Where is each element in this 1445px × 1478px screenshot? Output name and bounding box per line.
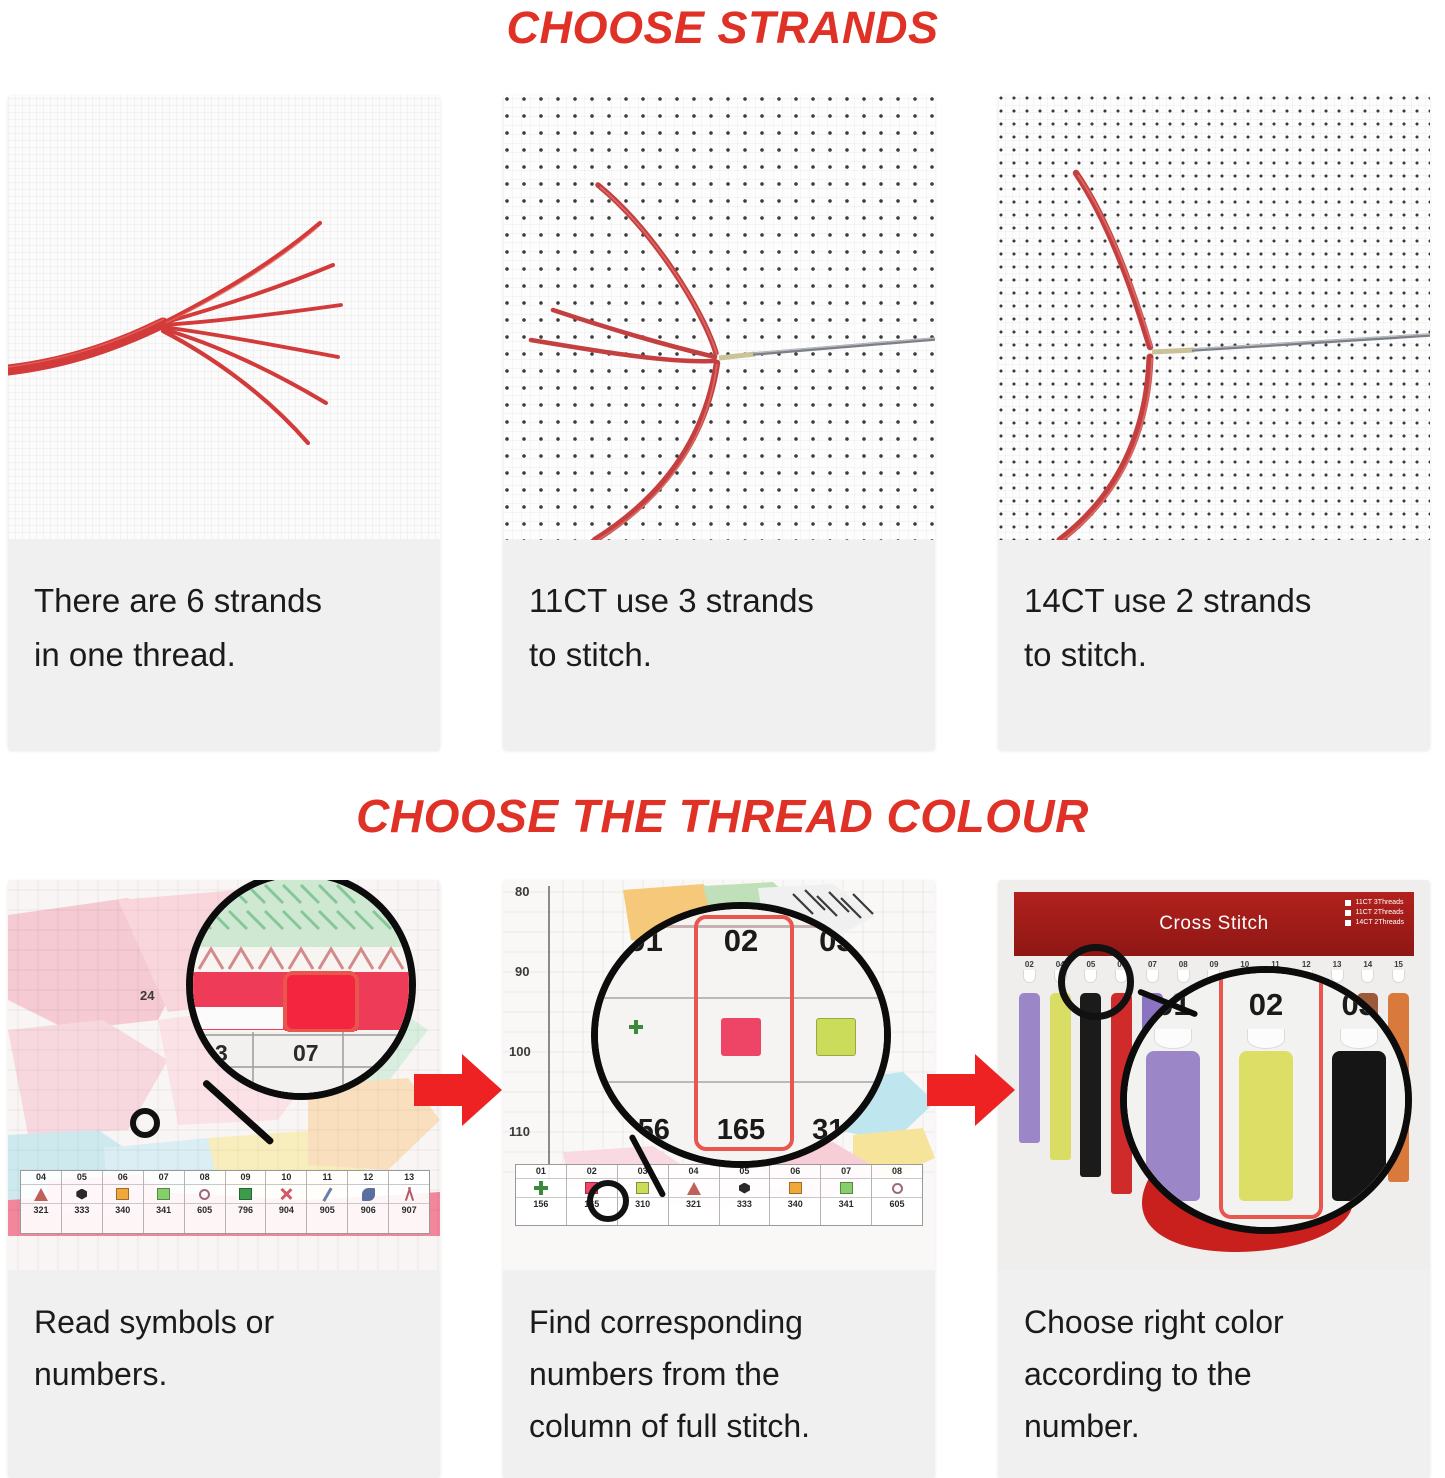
legend-symbol-cell bbox=[872, 1178, 922, 1198]
arrow-step2-to-step3-icon bbox=[925, 1048, 1017, 1132]
legend-thread-code: 156 bbox=[516, 1198, 566, 1211]
organizer-option-label: 11CT 3Threads bbox=[1355, 899, 1403, 906]
checkbox-icon[interactable] bbox=[1345, 900, 1351, 906]
lens-column-code: 156 bbox=[621, 1114, 669, 1147]
two-strand-needle-illustration bbox=[998, 95, 1430, 540]
arrow-step1-to-step2-icon bbox=[412, 1048, 504, 1132]
infographic-page: CHOOSE STRANDS bbox=[0, 0, 1445, 1478]
legend-symbol-cell bbox=[307, 1184, 347, 1204]
svg-text:24: 24 bbox=[140, 988, 155, 1003]
organizer-title: Cross Stitch bbox=[1159, 913, 1269, 935]
legend-column: 05333 bbox=[62, 1171, 103, 1233]
circle-open-icon bbox=[199, 1189, 210, 1200]
caption-find-numbers: Find corresponding numbers from the colu… bbox=[503, 1270, 935, 1478]
lens-column-03: 03 310 bbox=[789, 909, 884, 1161]
organizer-slot-number: 09 bbox=[1210, 960, 1219, 969]
legend-symbol-cell bbox=[62, 1184, 102, 1204]
svg-text:07: 07 bbox=[293, 1040, 319, 1066]
legend-column-number: 06 bbox=[103, 1171, 143, 1184]
strand-cards-row: There are 6 strands in one thread. bbox=[0, 95, 1445, 750]
triangle-icon bbox=[687, 1182, 701, 1195]
box-green-light-icon bbox=[840, 1182, 853, 1194]
legend-column-number: 06 bbox=[770, 1165, 820, 1178]
legend-thread-code: 321 bbox=[21, 1204, 61, 1217]
legend-column-number: 12 bbox=[348, 1171, 388, 1184]
legend-symbol-cell bbox=[103, 1184, 143, 1204]
legend-symbol-cell bbox=[669, 1178, 719, 1198]
card-choose-colour: Cross Stitch 11CT 3Threads11CT 2Threads1… bbox=[998, 880, 1430, 1478]
legend-column-number: 07 bbox=[821, 1165, 871, 1178]
circle-open-icon bbox=[892, 1183, 903, 1194]
photo-pattern-chart-numbers: 80 90 100 110 01156021650331004321053330… bbox=[503, 880, 935, 1270]
organizer-notch bbox=[1023, 970, 1036, 983]
card-read-symbols: 24 0432105333063400734108605097961090411… bbox=[8, 880, 440, 1478]
legend-column-number: 08 bbox=[872, 1165, 922, 1178]
magnifier-lens-threads: 010203 bbox=[1120, 966, 1412, 1234]
magnifier-lens-symbols: 3 07 bbox=[186, 880, 416, 1100]
svg-text:90: 90 bbox=[515, 964, 529, 979]
legend-column: 12906 bbox=[348, 1171, 389, 1233]
thread-skein bbox=[1080, 993, 1101, 1177]
legend-thread-code: 333 bbox=[720, 1198, 770, 1211]
card-find-numbers: 80 90 100 110 01156021650331004321053330… bbox=[503, 880, 935, 1478]
legend-symbol-cell bbox=[821, 1178, 871, 1198]
checkbox-icon[interactable] bbox=[1345, 920, 1351, 926]
lens-thread-column: 01 bbox=[1127, 973, 1220, 1227]
svg-text:100: 100 bbox=[509, 1044, 531, 1059]
organizer-skein-wrap bbox=[1045, 992, 1076, 1222]
legend-column-number: 09 bbox=[226, 1171, 266, 1184]
legend-column-number: 08 bbox=[185, 1171, 225, 1184]
legend-column: 05333 bbox=[720, 1165, 771, 1225]
legend-thread-code: 904 bbox=[266, 1204, 306, 1217]
lens-thread-notch bbox=[1340, 1029, 1378, 1049]
caption-11ct-three-strands: 11CT use 3 strands to stitch. bbox=[503, 540, 935, 750]
legend-column-number: 03 bbox=[618, 1165, 668, 1178]
photo-pattern-chart-symbols: 24 0432105333063400734108605097961090411… bbox=[8, 880, 440, 1270]
section-heading-choose-thread-colour: CHOOSE THE THREAD COLOUR bbox=[0, 788, 1445, 844]
legend-column: 06340 bbox=[770, 1165, 821, 1225]
card-11ct-three-strands: 11CT use 3 strands to stitch. bbox=[503, 95, 935, 750]
caption-six-strands: There are 6 strands in one thread. bbox=[8, 540, 440, 750]
organizer-option-label: 11CT 2Threads bbox=[1355, 909, 1403, 916]
legend-column-number: 11 bbox=[307, 1171, 347, 1184]
legend-column-number: 04 bbox=[21, 1171, 61, 1184]
organizer-option[interactable]: 11CT 3Threads bbox=[1345, 899, 1404, 906]
organizer-slot-number: 07 bbox=[1148, 960, 1157, 969]
six-strand-thread-illustration bbox=[8, 95, 440, 540]
highlight-box-thread-02 bbox=[1219, 969, 1323, 1219]
thread-skein bbox=[1019, 993, 1040, 1143]
legend-thread-code: 321 bbox=[669, 1198, 719, 1211]
box-green-light-icon bbox=[157, 1188, 170, 1200]
legend-column: 04321 bbox=[669, 1165, 720, 1225]
legend-thread-code: 341 bbox=[144, 1204, 184, 1217]
organizer-slot-number: 12 bbox=[1302, 960, 1311, 969]
legend-column: 08605 bbox=[185, 1171, 226, 1233]
organizer-options-list: 11CT 3Threads11CT 2Threads14CT 2Threads bbox=[1345, 899, 1404, 926]
leaf-icon bbox=[362, 1188, 375, 1201]
svg-text:80: 80 bbox=[515, 884, 529, 899]
svg-text:110: 110 bbox=[509, 1124, 530, 1139]
legend-column: 13907 bbox=[389, 1171, 429, 1233]
legend-thread-code: 340 bbox=[770, 1198, 820, 1211]
photo-six-strands bbox=[8, 95, 440, 540]
organizer-slot-number: 15 bbox=[1394, 960, 1403, 969]
triangle-icon bbox=[34, 1188, 48, 1201]
legend-symbol-cell bbox=[266, 1184, 306, 1204]
legend-column-number: 04 bbox=[669, 1165, 719, 1178]
organizer-option[interactable]: 11CT 2Threads bbox=[1345, 909, 1404, 916]
legend-symbol-cell bbox=[389, 1184, 429, 1204]
colour-cards-row: 24 0432105333063400734108605097961090411… bbox=[0, 880, 1445, 1478]
highlight-box-column-02 bbox=[694, 915, 794, 1151]
organizer-skein-wrap bbox=[1076, 992, 1107, 1222]
photo-11ct-three-strands bbox=[503, 95, 935, 540]
legend-column-number: 02 bbox=[567, 1165, 617, 1178]
lambda-icon bbox=[402, 1187, 416, 1201]
caption-14ct-two-strands: 14CT use 2 strands to stitch. bbox=[998, 540, 1430, 750]
legend-column: 06340 bbox=[103, 1171, 144, 1233]
photo-thread-organizer: Cross Stitch 11CT 3Threads11CT 2Threads1… bbox=[998, 880, 1430, 1270]
legend-column: 01156 bbox=[516, 1165, 567, 1225]
lens-column-code: 310 bbox=[812, 1114, 860, 1147]
box-yellow-green-icon bbox=[636, 1182, 649, 1194]
legend-symbol-cell bbox=[185, 1184, 225, 1204]
magnifier-target-ring bbox=[130, 1108, 160, 1138]
plus-green-icon bbox=[534, 1181, 548, 1195]
organizer-slot-number: 08 bbox=[1179, 960, 1188, 969]
legend-column-number: 07 bbox=[144, 1171, 184, 1184]
caption-read-symbols: Read symbols or numbers. bbox=[8, 1270, 440, 1478]
legend-thread-code: 333 bbox=[62, 1204, 102, 1217]
lens-zoom-content: 3 07 bbox=[193, 880, 409, 1093]
organizer-slot: 02 bbox=[1014, 960, 1045, 983]
organizer-slot-number: 13 bbox=[1333, 960, 1342, 969]
photo-14ct-two-strands bbox=[998, 95, 1430, 540]
plus-green-icon bbox=[620, 1013, 672, 1061]
hexagon-icon bbox=[739, 1183, 750, 1194]
caption-choose-colour: Choose right color according to the numb… bbox=[998, 1270, 1430, 1478]
legend-column: 07341 bbox=[821, 1165, 872, 1225]
magnifier-target-ring-2 bbox=[587, 1180, 629, 1222]
legend-column: 08605 bbox=[872, 1165, 922, 1225]
legend-column-number: 13 bbox=[389, 1171, 429, 1184]
legend-column: 04321 bbox=[21, 1171, 62, 1233]
legend-thread-code: 605 bbox=[185, 1204, 225, 1217]
lens-column-number: 03 bbox=[819, 923, 853, 959]
lens-thread-skein bbox=[1146, 1051, 1200, 1201]
legend-column-number: 10 bbox=[266, 1171, 306, 1184]
legend-symbol-cell bbox=[348, 1184, 388, 1204]
legend-symbol-cell bbox=[226, 1184, 266, 1204]
box-green-dark-icon bbox=[239, 1188, 252, 1200]
organizer-slot-number: 02 bbox=[1025, 960, 1034, 969]
organizer-option-label: 14CT 2Threads bbox=[1355, 919, 1404, 926]
legend-column-number: 05 bbox=[62, 1171, 102, 1184]
lens-thread-number: 03 bbox=[1341, 987, 1375, 1023]
hexagon-icon bbox=[76, 1189, 87, 1200]
box-orange-icon bbox=[789, 1182, 802, 1194]
organizer-option[interactable]: 14CT 2Threads bbox=[1345, 919, 1404, 926]
legend-thread-code: 905 bbox=[307, 1204, 347, 1217]
lens-thread-column: 03 bbox=[1312, 973, 1405, 1227]
legend-column: 07341 bbox=[144, 1171, 185, 1233]
legend-thread-code: 796 bbox=[226, 1204, 266, 1217]
card-six-strands: There are 6 strands in one thread. bbox=[8, 95, 440, 750]
card-14ct-two-strands: 14CT use 2 strands to stitch. bbox=[998, 95, 1430, 750]
organizer-slot-number: 14 bbox=[1363, 960, 1372, 969]
thread-skein bbox=[1050, 993, 1071, 1160]
organizer-skein-wrap bbox=[1014, 992, 1045, 1222]
slash-icon bbox=[320, 1187, 334, 1201]
legend-symbol-cell bbox=[144, 1184, 184, 1204]
magnifier-target-ring-3 bbox=[1058, 944, 1134, 1020]
lens-thread-notch bbox=[1154, 1029, 1192, 1049]
section-heading-choose-strands: CHOOSE STRANDS bbox=[0, 2, 1445, 54]
box-orange-icon bbox=[116, 1188, 129, 1200]
legend-column: 09796 bbox=[226, 1171, 267, 1233]
legend-column: 11905 bbox=[307, 1171, 348, 1233]
checkbox-icon[interactable] bbox=[1345, 910, 1351, 916]
legend-thread-code: 907 bbox=[389, 1204, 429, 1217]
legend-thread-code: 340 bbox=[103, 1204, 143, 1217]
organizer-header-banner: Cross Stitch 11CT 3Threads11CT 2Threads1… bbox=[1014, 892, 1414, 956]
box-yellow-green-icon bbox=[810, 1013, 862, 1061]
legend-thread-code: 341 bbox=[821, 1198, 871, 1211]
lens-column-01: 01 156 bbox=[598, 909, 693, 1161]
legend-table-read-symbols: 0432105333063400734108605097961090411905… bbox=[20, 1170, 430, 1234]
lens-column-number: 01 bbox=[628, 923, 662, 959]
legend-thread-code: 906 bbox=[348, 1204, 388, 1217]
legend-table-find-numbers: 0115602165033100432105333063400734108605 bbox=[515, 1164, 923, 1226]
legend-symbol-cell bbox=[770, 1178, 820, 1198]
legend-symbol-cell bbox=[720, 1178, 770, 1198]
three-strand-needle-illustration bbox=[503, 95, 935, 540]
legend-column: 10904 bbox=[266, 1171, 307, 1233]
lens-thread-skein bbox=[1332, 1051, 1386, 1201]
legend-symbol-cell bbox=[516, 1178, 566, 1198]
svg-text:3: 3 bbox=[215, 1040, 228, 1066]
legend-symbol-cell bbox=[21, 1184, 61, 1204]
legend-thread-code: 605 bbox=[872, 1198, 922, 1211]
magnifier-lens-numbers: 01 156 02 165 03 310 bbox=[591, 902, 891, 1168]
cross-x-icon bbox=[279, 1187, 293, 1201]
legend-column-number: 01 bbox=[516, 1165, 566, 1178]
